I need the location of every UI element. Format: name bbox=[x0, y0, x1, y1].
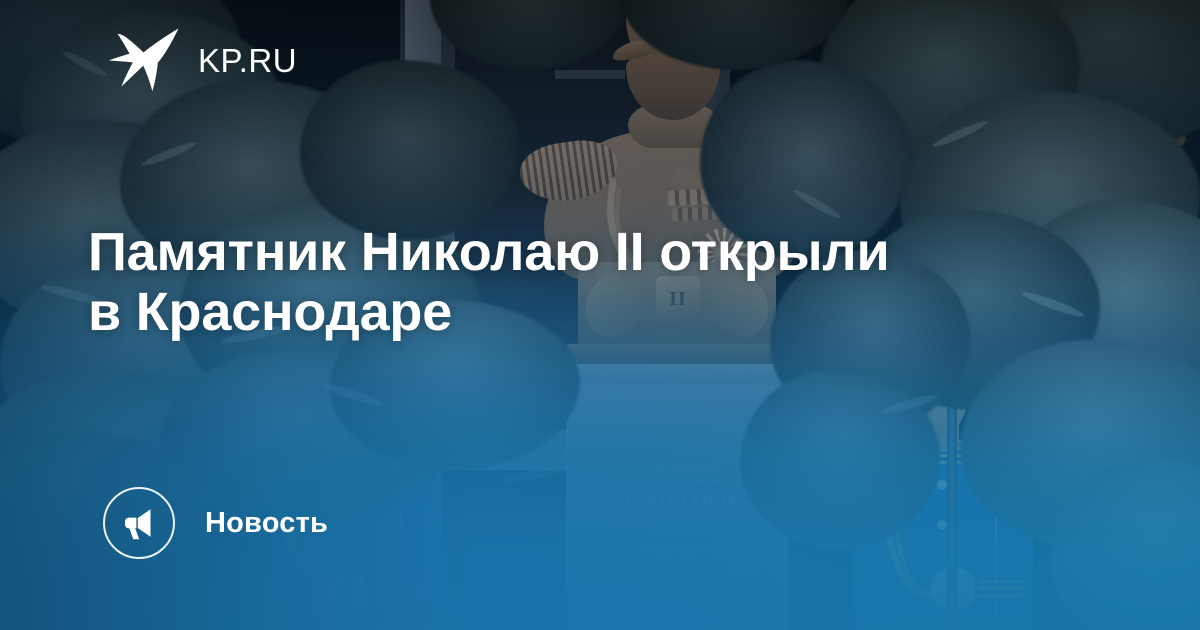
category-badge[interactable]: Новость bbox=[103, 487, 328, 559]
news-card: II ПРОЕКТ «АЛЛЕЯ РОССИЙСКОЙ СЛАВЫ» Госуд… bbox=[0, 0, 1200, 630]
overlay-ui: KP.RU Памятник Николаю II открыли в Крас… bbox=[0, 0, 1200, 630]
page-title-line-1: Памятник Николаю II открыли bbox=[88, 222, 1028, 282]
brand-name: KP.RU bbox=[198, 44, 297, 77]
page-title-line-2: в Краснодаре bbox=[88, 282, 1028, 342]
megaphone-icon bbox=[120, 504, 158, 542]
swallow-bird-logo bbox=[108, 27, 180, 93]
page-title: Памятник Николаю II открыли в Краснодаре bbox=[88, 222, 1028, 343]
badge-circle bbox=[103, 487, 175, 559]
brand-block[interactable]: KP.RU bbox=[108, 27, 297, 93]
badge-label: Новость bbox=[205, 507, 328, 540]
